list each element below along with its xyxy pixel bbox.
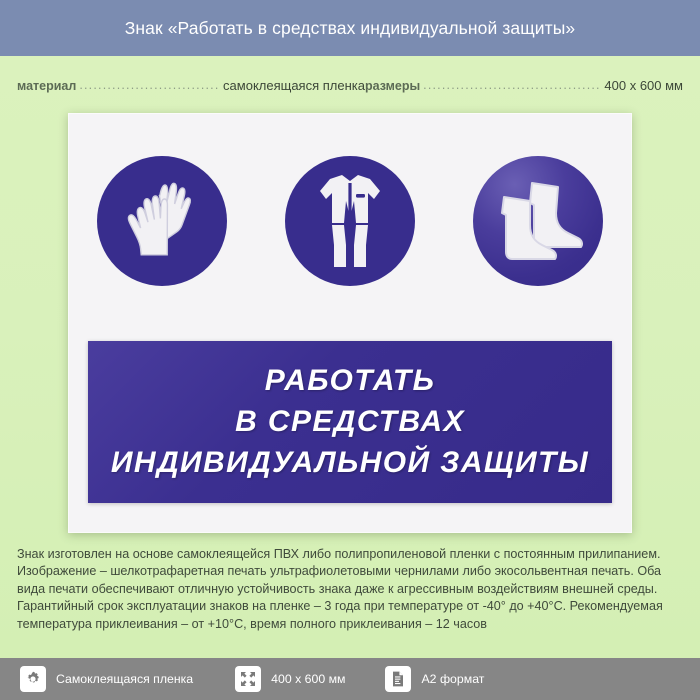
caption-line-3: ИНДИВИДУАЛЬНОЙ ЗАЩИТЫ bbox=[111, 444, 589, 482]
description-text: Знак изготовлен на основе самоклеящейся … bbox=[17, 546, 685, 633]
safety-boots-icon bbox=[473, 156, 603, 286]
spec-size-value: 400 x 600 мм bbox=[604, 78, 683, 93]
resize-arrows-icon bbox=[235, 666, 261, 692]
bottom-item-format[interactable]: A2 формат bbox=[385, 666, 484, 692]
spec-size-label: размеры bbox=[365, 79, 420, 93]
page-title: Знак «Работать в средствах индивидуально… bbox=[125, 18, 576, 39]
protective-coveralls-icon bbox=[285, 156, 415, 286]
bottom-info-bar: Самоклеящаяся пленка 400 x 600 мм bbox=[0, 658, 700, 700]
page-body: материал ...............................… bbox=[0, 56, 700, 658]
sign-image[interactable]: РАБОТАТЬ В СРЕДСТВАХ ИНДИВИДУАЛЬНОЙ ЗАЩИ… bbox=[68, 113, 632, 533]
spec-material: материал ...............................… bbox=[17, 78, 365, 93]
caption-line-2: В СРЕДСТВАХ bbox=[235, 403, 465, 441]
document-icon bbox=[385, 666, 411, 692]
bottom-item-material[interactable]: Самоклеящаяся пленка bbox=[20, 666, 193, 692]
pictogram-row bbox=[68, 147, 632, 295]
bottom-item-size[interactable]: 400 x 600 мм bbox=[235, 666, 345, 692]
spec-material-label: материал bbox=[17, 79, 76, 93]
spec-row: материал ...............................… bbox=[17, 78, 683, 93]
bottom-item-format-label: A2 формат bbox=[421, 672, 484, 686]
bottom-item-size-label: 400 x 600 мм bbox=[271, 672, 345, 686]
spec-size-dots: ........................................… bbox=[423, 78, 601, 92]
gear-icon bbox=[20, 666, 46, 692]
sign-caption-panel: РАБОТАТЬ В СРЕДСТВАХ ИНДИВИДУАЛЬНОЙ ЗАЩИ… bbox=[88, 341, 612, 503]
protective-gloves-icon bbox=[97, 156, 227, 286]
bottom-item-material-label: Самоклеящаяся пленка bbox=[56, 672, 193, 686]
spec-material-dots: ........................................… bbox=[79, 78, 220, 92]
header-bar: Знак «Работать в средствах индивидуально… bbox=[0, 0, 700, 56]
spec-material-value: самоклеящаяся пленка bbox=[223, 78, 365, 93]
spec-size: размеры ................................… bbox=[365, 78, 683, 93]
caption-line-1: РАБОТАТЬ bbox=[265, 362, 436, 400]
